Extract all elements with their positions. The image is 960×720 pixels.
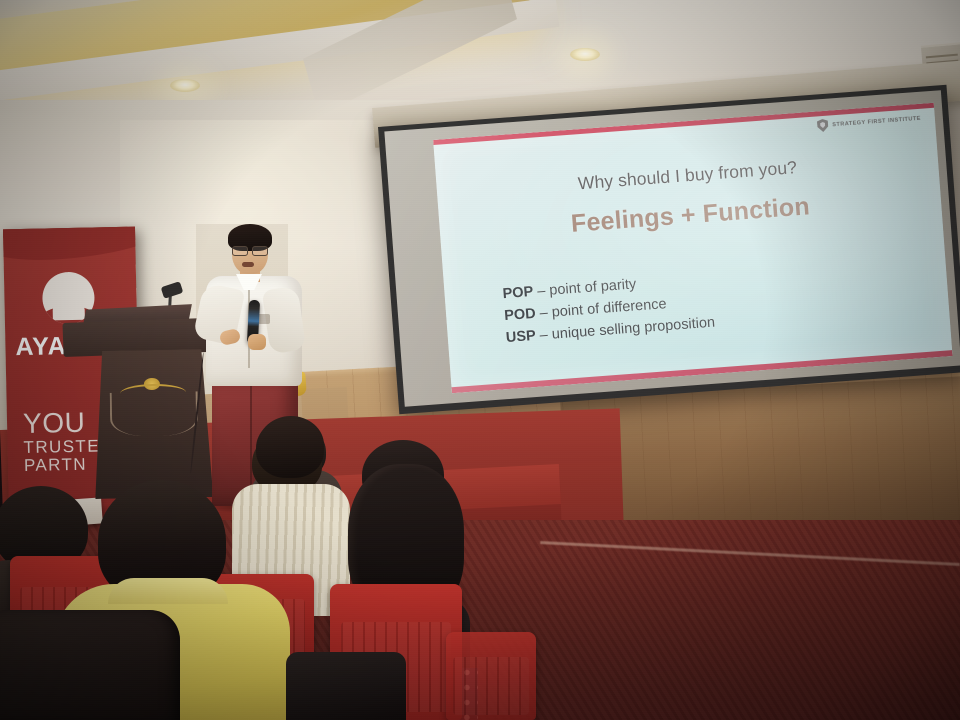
attendee-head — [256, 418, 324, 478]
presenter-mouth — [242, 262, 254, 267]
podium-emblem-wings — [110, 391, 199, 437]
attendee-collar — [108, 578, 228, 604]
slide-bullet-list: POP – point of parity POD – point of dif… — [502, 268, 716, 349]
slide-logo-text: Strategy First Institute — [832, 115, 921, 128]
chair — [0, 610, 180, 720]
bullet-dash: – — [539, 305, 548, 322]
downlight-icon — [570, 48, 600, 61]
slide-glare — [433, 103, 952, 394]
bullet-key: POP — [502, 284, 534, 302]
bullet-dash: – — [537, 283, 546, 300]
chair — [446, 632, 536, 720]
bag — [286, 652, 406, 720]
seminar-photo: Strategy First Institute Why should I bu… — [0, 0, 960, 720]
presenter-right-hand — [248, 334, 266, 350]
bullet-dash: – — [539, 327, 548, 344]
downlight-icon — [170, 79, 200, 92]
projection-screen: Strategy First Institute Why should I bu… — [378, 85, 960, 414]
bullet-key: POD — [504, 306, 537, 324]
shield-icon — [817, 119, 829, 133]
presenter-shirt-pocket — [258, 314, 270, 324]
banner-swoosh-front — [3, 227, 141, 265]
presentation-slide: Strategy First Institute Why should I bu… — [433, 103, 952, 394]
bullet-key: USP — [505, 328, 536, 346]
screen-surface: Strategy First Institute Why should I bu… — [384, 90, 960, 407]
glasses-icon — [232, 246, 268, 254]
